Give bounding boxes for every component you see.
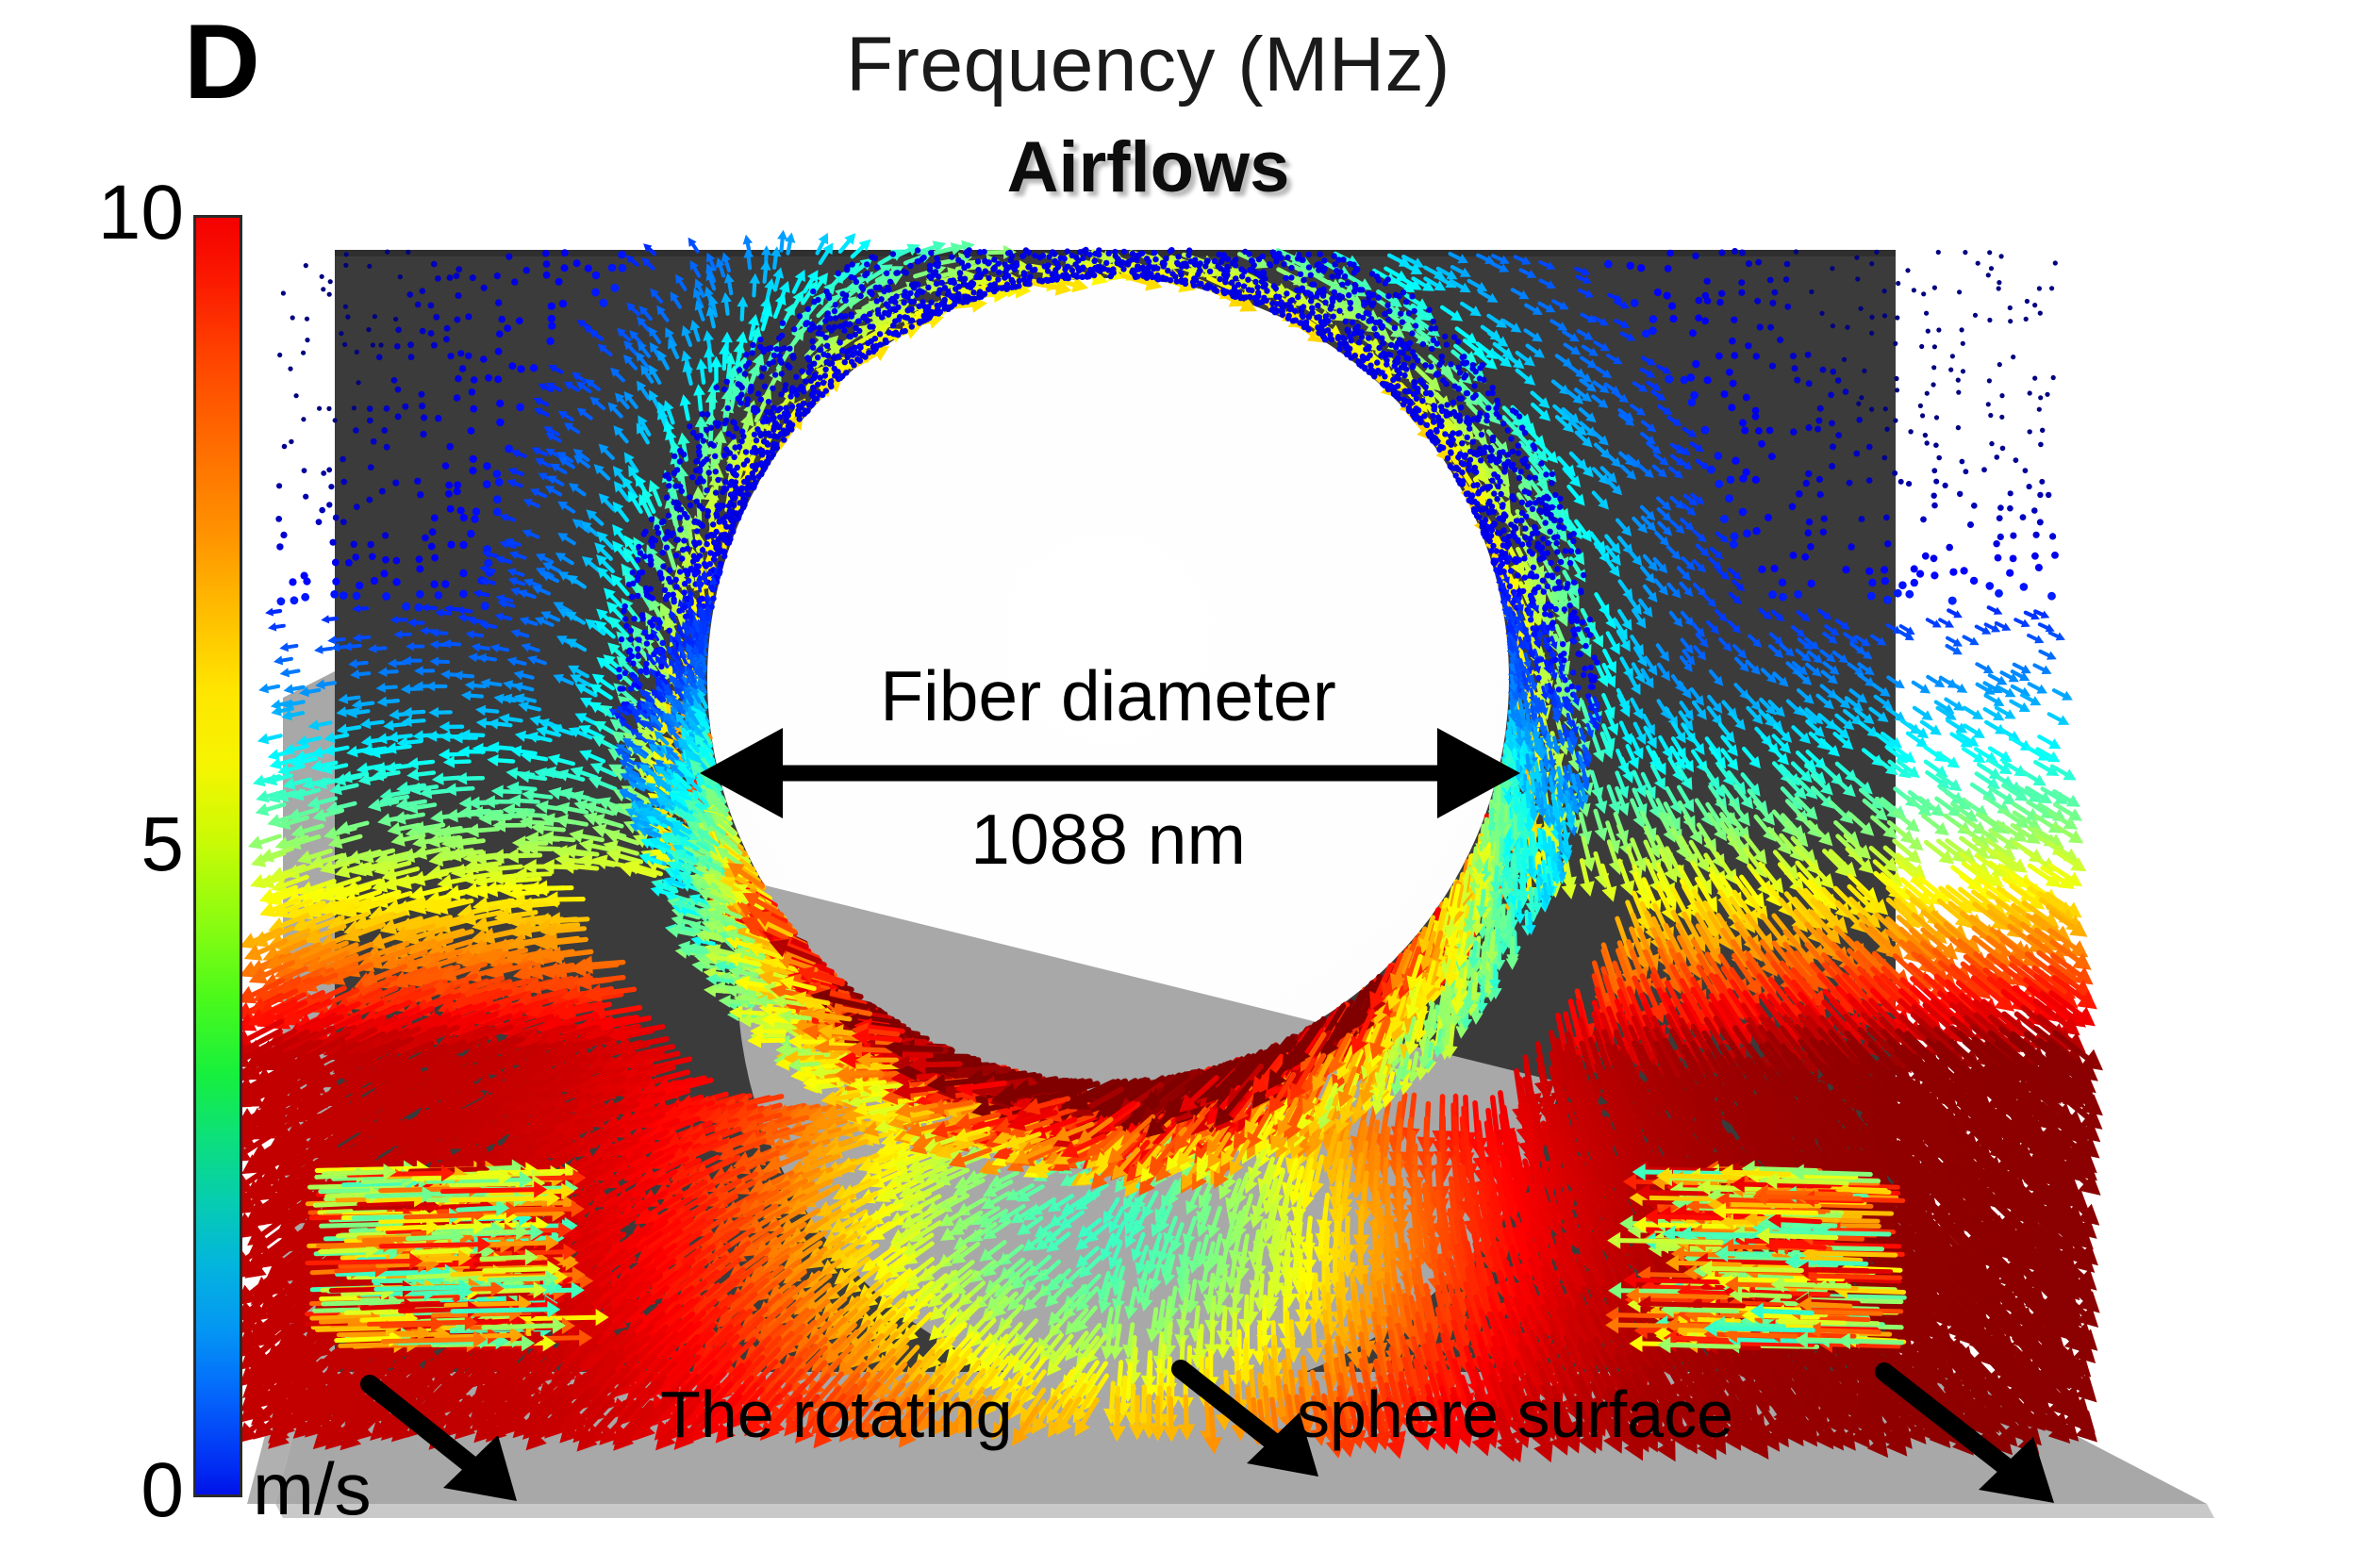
figure-canvas: D Frequency (MHz) Airflows 10 5 0 m/s Fi… xyxy=(0,0,2353,1568)
fiber-diameter-value: 1088 nm xyxy=(806,803,1410,876)
surface-pointer-arrow-left xyxy=(370,1384,517,1501)
rotating-surface-label-part2: sphere surface xyxy=(1297,1381,1733,1448)
surface-pointer-arrow-right xyxy=(1884,1372,2054,1503)
fiber-diameter-label: Fiber diameter xyxy=(806,660,1410,733)
annotation-arrows xyxy=(0,0,2353,1568)
rotating-surface-label-part1: The rotating xyxy=(660,1381,1013,1448)
